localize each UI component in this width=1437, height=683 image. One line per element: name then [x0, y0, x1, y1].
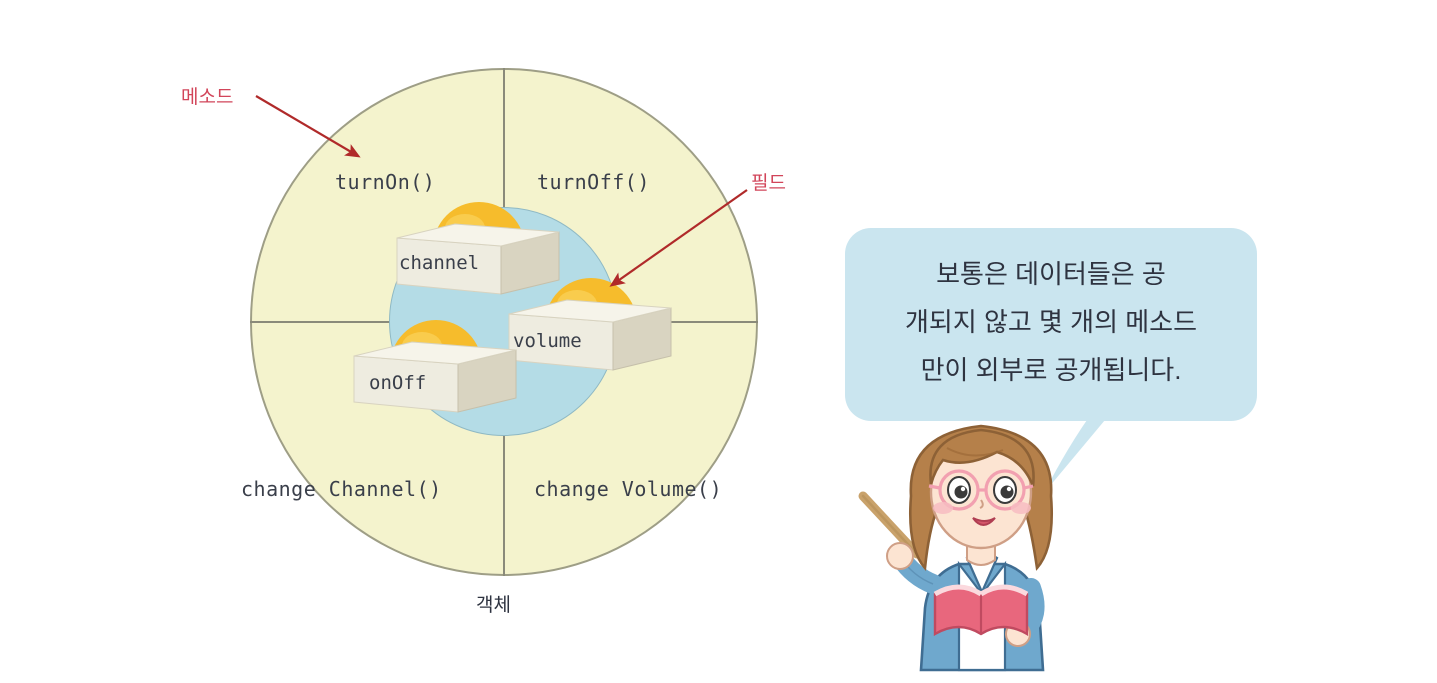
- method-label-turn-off: turnOff(): [537, 170, 650, 194]
- object-caption: 객체: [476, 590, 511, 617]
- field-box-volume: volume: [505, 272, 675, 392]
- book-icon: [935, 587, 1027, 634]
- speech-bubble: 보통은 데이터들은 공 개되지 않고 몇 개의 메소드 만이 외부로 공개됩니다…: [845, 228, 1257, 421]
- annotation-label-field: 필드: [751, 168, 786, 195]
- annotation-label-method: 메소드: [181, 82, 233, 109]
- left-blush: [933, 502, 953, 514]
- method-label-change-volume: change Volume(): [534, 477, 722, 501]
- teacher-character: [855, 408, 1105, 676]
- speech-line-3: 만이 외부로 공개됩니다.: [861, 346, 1241, 394]
- speech-line-1: 보통은 데이터들은 공: [861, 250, 1241, 298]
- field-label-channel: channel: [399, 252, 479, 274]
- speech-bubble-text: 보통은 데이터들은 공 개되지 않고 몇 개의 메소드 만이 외부로 공개됩니다…: [845, 250, 1257, 394]
- method-label-turn-on: turnOn(): [335, 170, 435, 194]
- speech-line-2: 개되지 않고 몇 개의 메소드: [861, 298, 1241, 346]
- teacher-illustration: [855, 408, 1105, 676]
- field-label-onoff: onOff: [369, 372, 426, 394]
- left-hand: [887, 543, 913, 569]
- field-label-volume: volume: [513, 330, 582, 352]
- right-blush: [1011, 502, 1031, 514]
- diagram-page: turnOn() turnOff() change Channel() chan…: [0, 0, 1437, 683]
- object-diagram: turnOn() turnOff() change Channel() chan…: [0, 0, 860, 683]
- method-label-change-channel: change Channel(): [241, 477, 442, 501]
- field-box-onoff: onOff: [350, 314, 520, 434]
